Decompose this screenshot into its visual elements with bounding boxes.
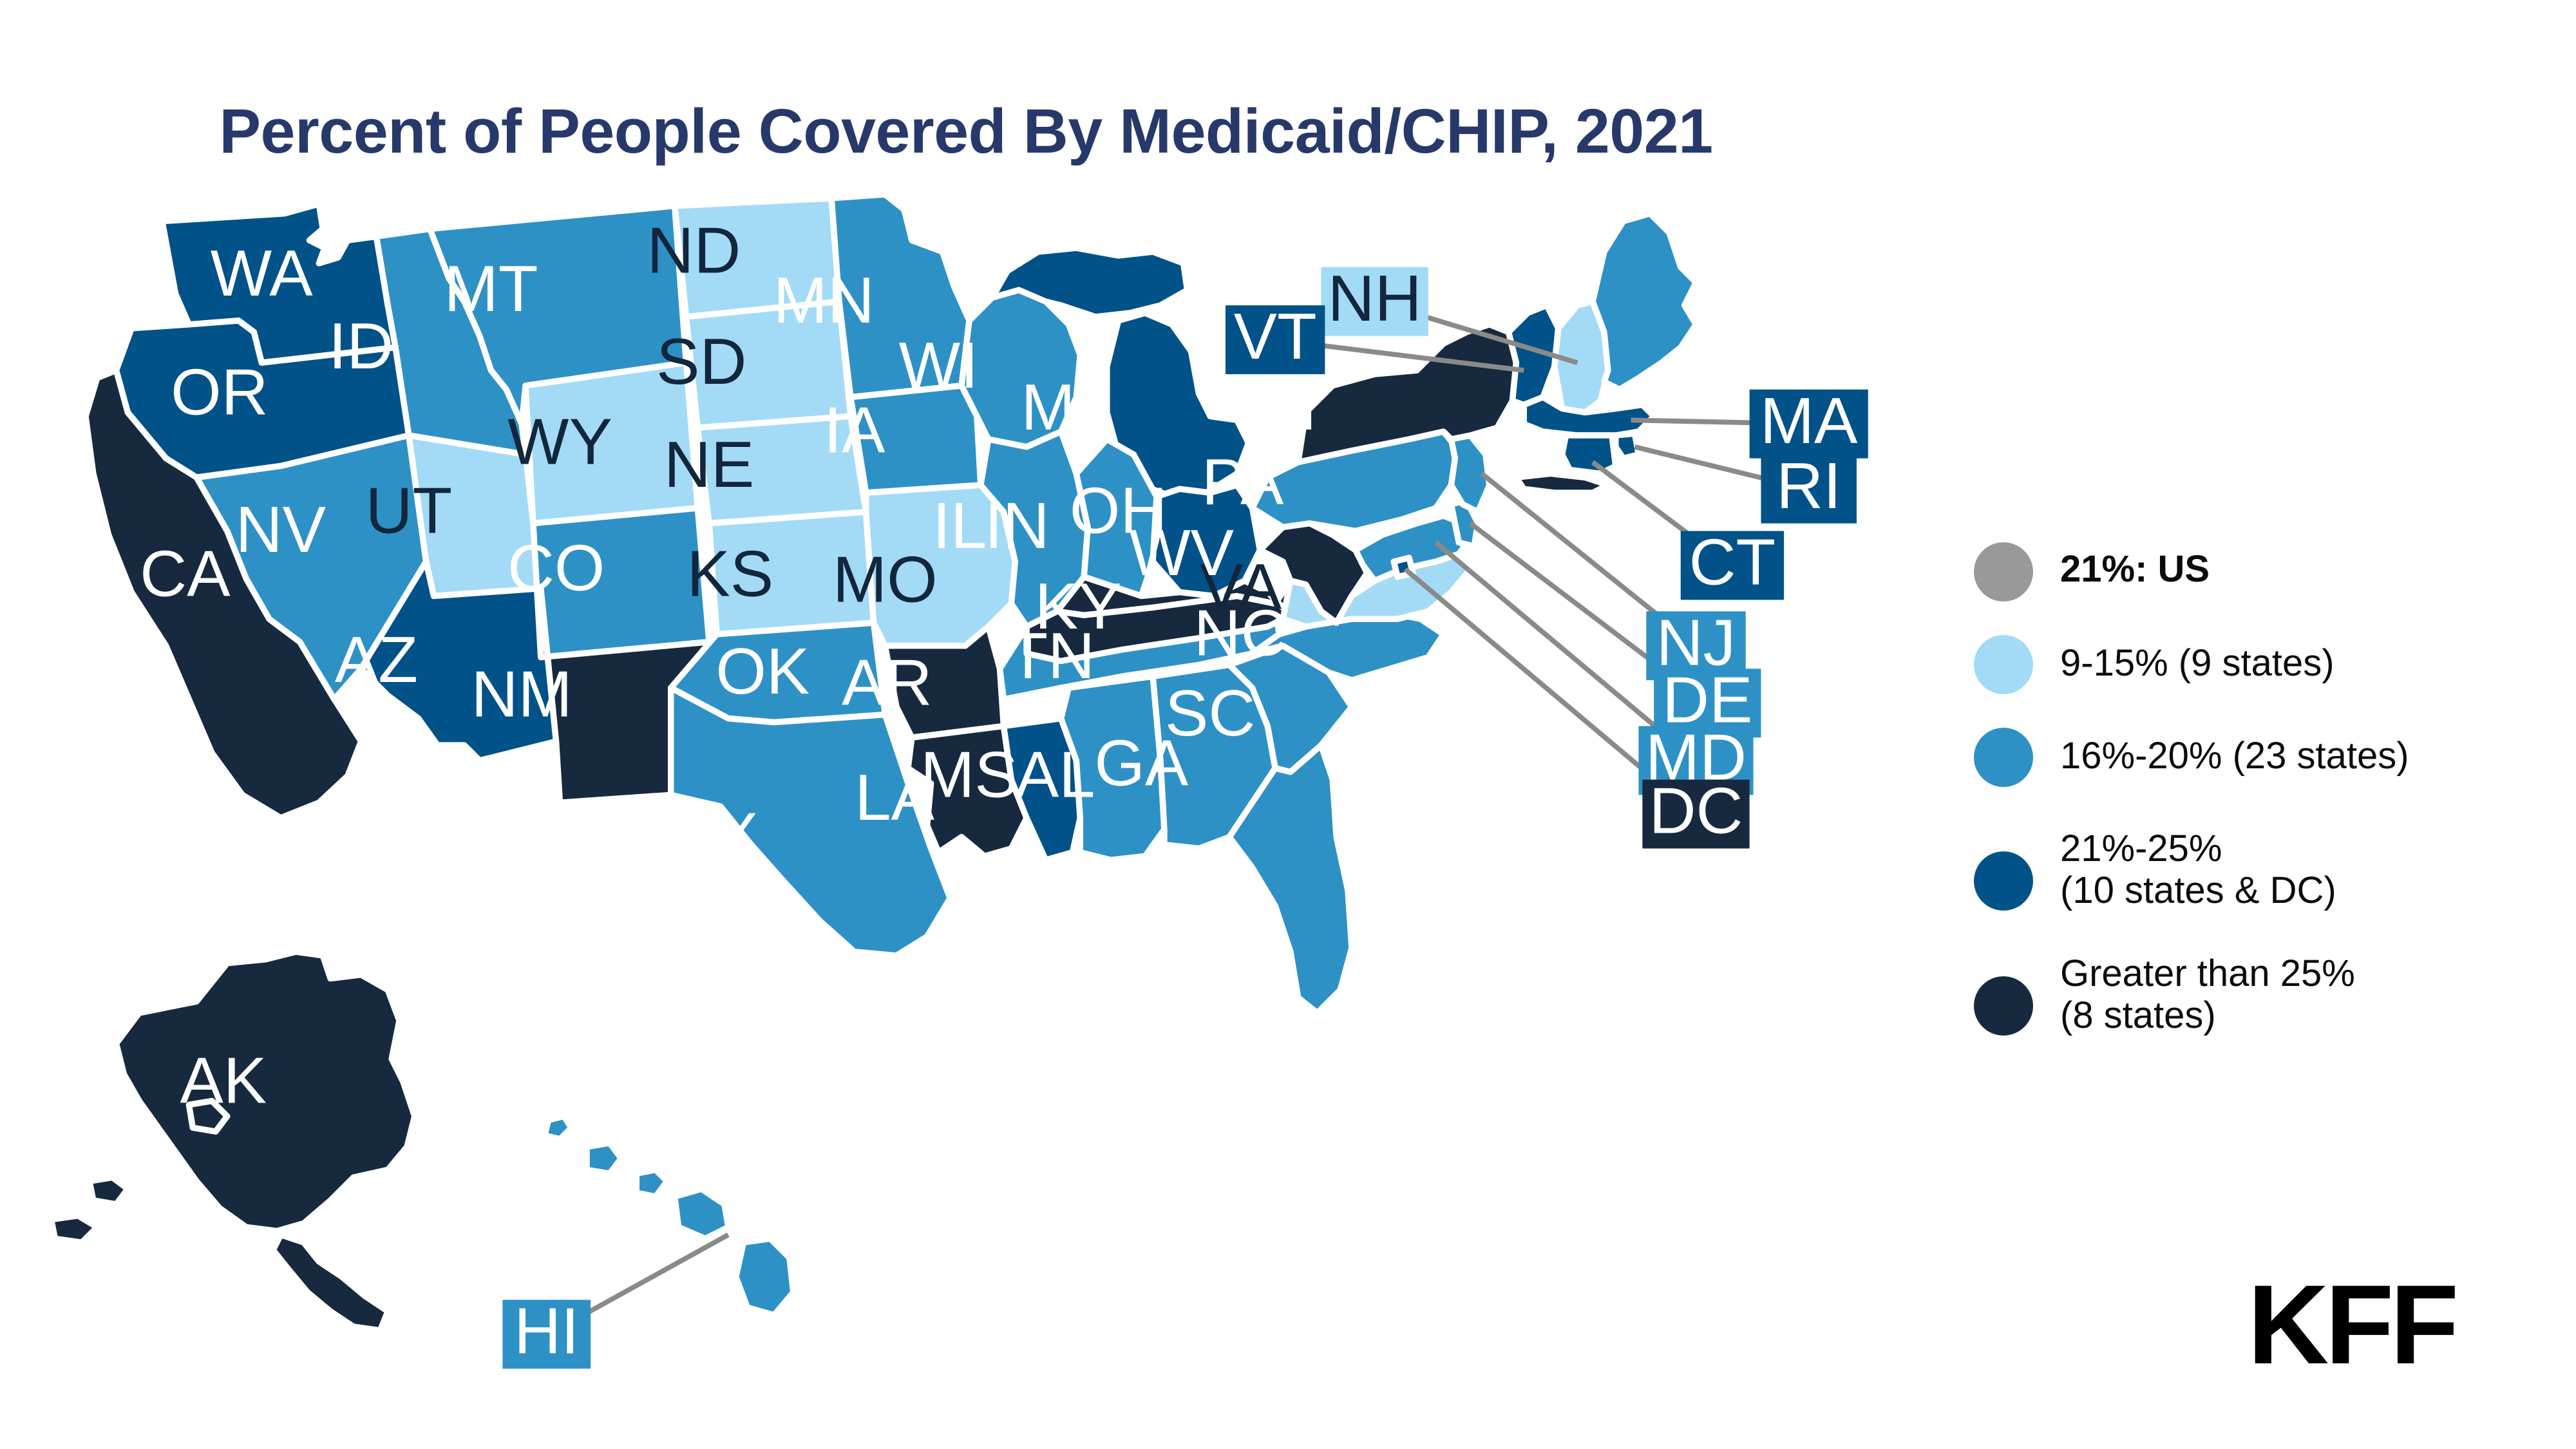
kff-logo: KFF [2248, 1269, 2455, 1381]
callout-VT[interactable]: VT [1226, 301, 1325, 374]
legend-label-tier-16-20: 16%-20% (23 states) [2060, 728, 2409, 777]
legend-swatch-tier-over-25 [1974, 976, 2033, 1036]
map-page: Percent of People Covered By Medicaid/CH… [0, 0, 2576, 1449]
legend-label-tier-21-25: 21%-25% (10 states & DC) [2060, 820, 2336, 912]
state-AK[interactable] [52, 952, 415, 1331]
legend-item-us-average[interactable]: 21%: US [1974, 541, 2534, 601]
callout-HI[interactable]: HI [502, 1295, 591, 1368]
state-MN[interactable] [831, 194, 969, 397]
callout-RI[interactable]: RI [1761, 450, 1856, 524]
state-CT[interactable] [1562, 435, 1616, 473]
state-MO[interactable] [866, 485, 1016, 645]
state-ME[interactable] [1593, 214, 1696, 390]
legend-item-tier-9-15[interactable]: 9-15% (9 states) [1974, 635, 2534, 694]
state-NY-long-island [1516, 473, 1608, 493]
state-NE[interactable] [697, 416, 866, 523]
us-choropleth-map: WA OR CA NV ID MT WY UT AZ CO NM ND SD N… [0, 187, 1938, 1449]
callout-CT[interactable]: CT [1681, 527, 1784, 600]
state-label-FL: FL [1172, 896, 1248, 968]
legend-item-tier-16-20[interactable]: 16%-20% (23 states) [1974, 728, 2534, 787]
legend-item-tier-over-25[interactable]: Greater than 25% (8 states) [1974, 945, 2534, 1037]
state-WY[interactable] [526, 363, 697, 523]
legend-swatch-tier-21-25 [1974, 851, 2033, 911]
legend-label-tier-over-25: Greater than 25% (8 states) [2060, 945, 2355, 1037]
legend-item-tier-21-25[interactable]: 21%-25% (10 states & DC) [1974, 820, 2534, 912]
state-HI[interactable] [545, 1116, 793, 1315]
state-SD[interactable] [686, 301, 850, 428]
legend-label-us-average: 21%: US [2060, 541, 2210, 591]
state-ND[interactable] [675, 198, 839, 317]
callout-NH[interactable]: NH [1321, 263, 1428, 336]
state-IA[interactable] [851, 386, 981, 493]
legend-swatch-tier-9-15 [1974, 635, 2033, 694]
state-KS[interactable] [709, 512, 873, 634]
state-WI[interactable] [961, 290, 1080, 447]
callout-DC[interactable]: DC [1642, 775, 1749, 849]
state-CO[interactable] [533, 508, 709, 658]
legend-swatch-us-average [1974, 542, 2033, 601]
callout-MA[interactable]: MA [1750, 385, 1868, 459]
legend-label-tier-9-15: 9-15% (9 states) [2060, 635, 2334, 685]
page-title: Percent of People Covered By Medicaid/CH… [0, 95, 1932, 167]
state-AR[interactable] [885, 627, 1003, 737]
legend-swatch-tier-16-20 [1974, 728, 2033, 787]
map-legend: 21%: US 9-15% (9 states) 16%-20% (23 sta… [1974, 541, 2534, 1037]
